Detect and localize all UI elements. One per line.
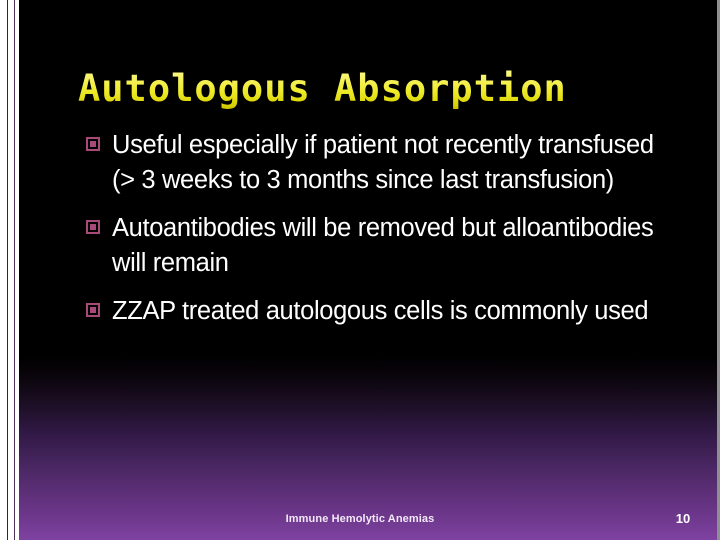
left-decorative-margin (0, 0, 19, 540)
list-item-text: Useful especially if patient not recentl… (112, 128, 682, 198)
list-item-text: ZZAP treated autologous cells is commonl… (112, 294, 682, 329)
slide-title: Autologous Absorption (78, 67, 678, 111)
slide-page-number: 10 (668, 511, 698, 526)
presentation-slide: Autologous Absorption Useful especially … (0, 0, 720, 540)
list-item: Autoantibodies will be removed but alloa… (86, 211, 682, 281)
list-item: ZZAP treated autologous cells is commonl… (86, 294, 682, 329)
slide-footer: Immune Hemolytic Anemias (0, 513, 720, 525)
square-bullet-icon (86, 303, 100, 317)
vertical-rule-inner (7, 0, 8, 540)
list-item: Useful especially if patient not recentl… (86, 128, 682, 198)
square-bullet-icon (86, 220, 100, 234)
square-bullet-icon (86, 137, 100, 151)
list-item-text: Autoantibodies will be removed but alloa… (112, 211, 682, 281)
vertical-rule-outer (14, 0, 15, 540)
bullet-list: Useful especially if patient not recentl… (86, 128, 682, 342)
